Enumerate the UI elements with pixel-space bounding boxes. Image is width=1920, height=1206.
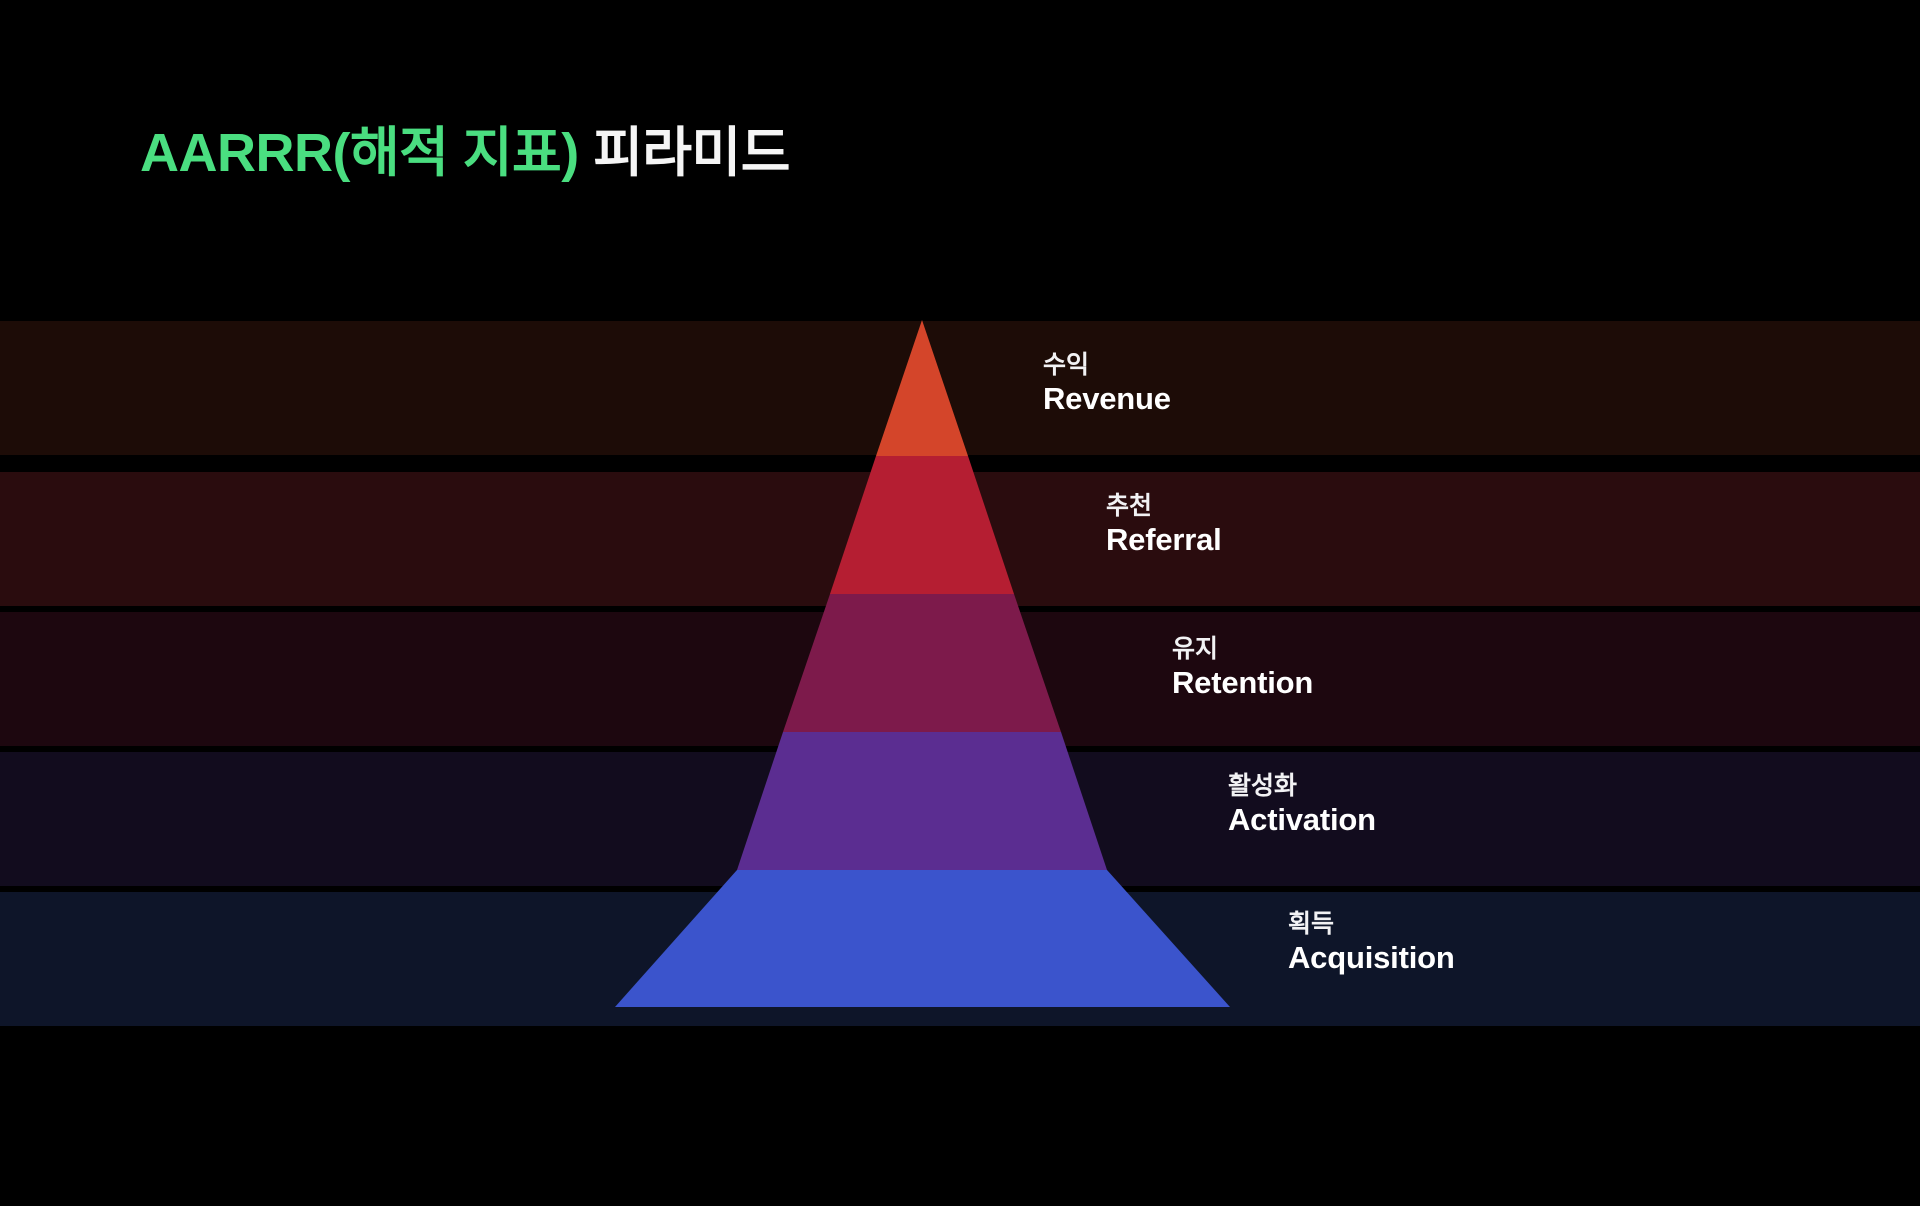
label-ko-retention: 유지 xyxy=(1172,635,1313,665)
label-ko-revenue: 수익 xyxy=(1043,351,1171,381)
label-ko-acquisition: 획득 xyxy=(1288,910,1455,940)
label-en-retention: Retention xyxy=(1172,665,1313,702)
band-retention xyxy=(0,612,1920,746)
band-revenue xyxy=(0,321,1920,455)
label-en-referral: Referral xyxy=(1106,522,1222,559)
label-ko-referral: 추천 xyxy=(1106,492,1222,522)
pyramid-label-acquisition: 획득 Acquisition xyxy=(1288,910,1455,976)
label-en-activation: Activation xyxy=(1228,802,1376,839)
band-acquisition xyxy=(0,892,1920,1026)
slide-canvas: 수익 Revenue 추천 Referral 유지 Retention 활성화 … xyxy=(0,0,1920,1206)
page-title: AARRR(해적 지표) 피라미드 xyxy=(140,122,790,184)
pyramid-label-retention: 유지 Retention xyxy=(1172,635,1313,701)
page-title-accent: AARRR(해적 지표) xyxy=(140,123,579,183)
pyramid-label-activation: 활성화 Activation xyxy=(1228,772,1376,838)
label-en-acquisition: Acquisition xyxy=(1288,940,1455,977)
band-referral xyxy=(0,472,1920,606)
page-title-plain: 피라미드 xyxy=(579,123,790,183)
pyramid-label-referral: 추천 Referral xyxy=(1106,492,1222,558)
label-ko-activation: 활성화 xyxy=(1228,772,1376,802)
band-activation xyxy=(0,752,1920,886)
pyramid-label-revenue: 수익 Revenue xyxy=(1043,351,1171,417)
label-en-revenue: Revenue xyxy=(1043,381,1171,418)
